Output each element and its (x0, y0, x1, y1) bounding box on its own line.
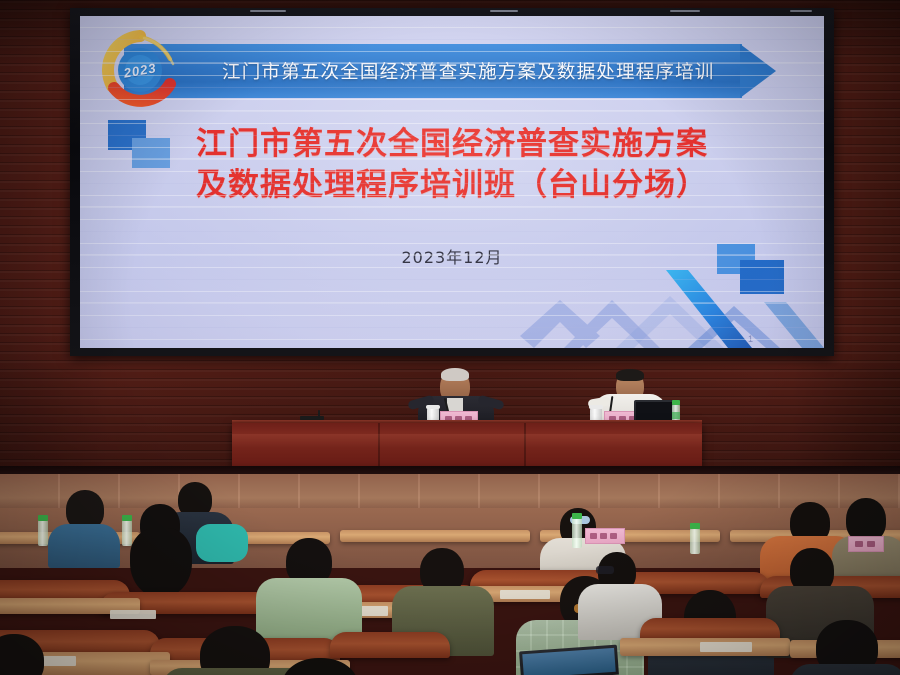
tea-cup-lid (426, 405, 440, 409)
attendee-scarf (196, 524, 248, 562)
name-placard-audience (585, 528, 625, 544)
water-bottle-label (672, 412, 680, 419)
bezel-glint (790, 10, 812, 12)
tea-cup-lid (589, 405, 603, 409)
water-bottle (122, 520, 132, 546)
slide-main-title: 江门市第五次全国经济普查实施方案 及数据处理程序培训班（台山分场） (80, 124, 824, 206)
handout-paper (500, 590, 550, 599)
speaker-left-hair (441, 368, 469, 381)
slide-page-number: 1 (748, 334, 753, 344)
water-bottle-cap (38, 515, 48, 521)
handout-paper (110, 610, 156, 619)
presentation-slide: 江门市第五次全国经济普查实施方案及数据处理程序培训 (80, 16, 824, 348)
slide-subtitle-date: 2023年12月 (80, 244, 824, 268)
desk-row3 (330, 632, 450, 658)
attendee-long-hair (130, 528, 192, 598)
banner-arrow-icon (740, 44, 776, 98)
bezel-glint (670, 10, 700, 12)
economic-census-logo: 2023 (94, 24, 186, 116)
attendee-torso-foreground (790, 664, 900, 675)
water-bottle (690, 528, 700, 554)
head-table-sheen (232, 434, 702, 448)
attendee-torso (48, 524, 120, 568)
speaker-right-hair (616, 369, 644, 381)
name-placard-audience (848, 536, 884, 552)
handout-paper (700, 642, 752, 652)
slide-chevron-decoration (520, 266, 824, 348)
water-bottle-cap (122, 515, 132, 521)
slide-title-line1: 江门市第五次全国经济普查实施方案 (196, 126, 708, 162)
slide-banner: 江门市第五次全国经济普查实施方案及数据处理程序培训 (102, 44, 802, 98)
water-bottle-cap (572, 513, 582, 519)
bezel-glint (490, 10, 518, 12)
water-bottle-cap (690, 523, 700, 529)
slide-title-line2: 及数据处理程序培训班（台山分场） (80, 165, 824, 206)
desk-row1 (340, 530, 530, 542)
water-bottle (572, 518, 582, 548)
conference-hall-photo: 江门市第五次全国经济普查实施方案及数据处理程序培训 (0, 0, 900, 675)
glasses-icon (596, 566, 614, 574)
water-bottle (38, 520, 48, 546)
banner-title-text: 江门市第五次全国经济普查实施方案及数据处理程序培训 (222, 44, 742, 98)
bezel-glint (250, 10, 286, 12)
microphone-stem (318, 410, 320, 418)
water-bottle-cap (672, 400, 680, 405)
logo-year-text: 2023 (87, 17, 194, 124)
audience-area (0, 480, 900, 675)
